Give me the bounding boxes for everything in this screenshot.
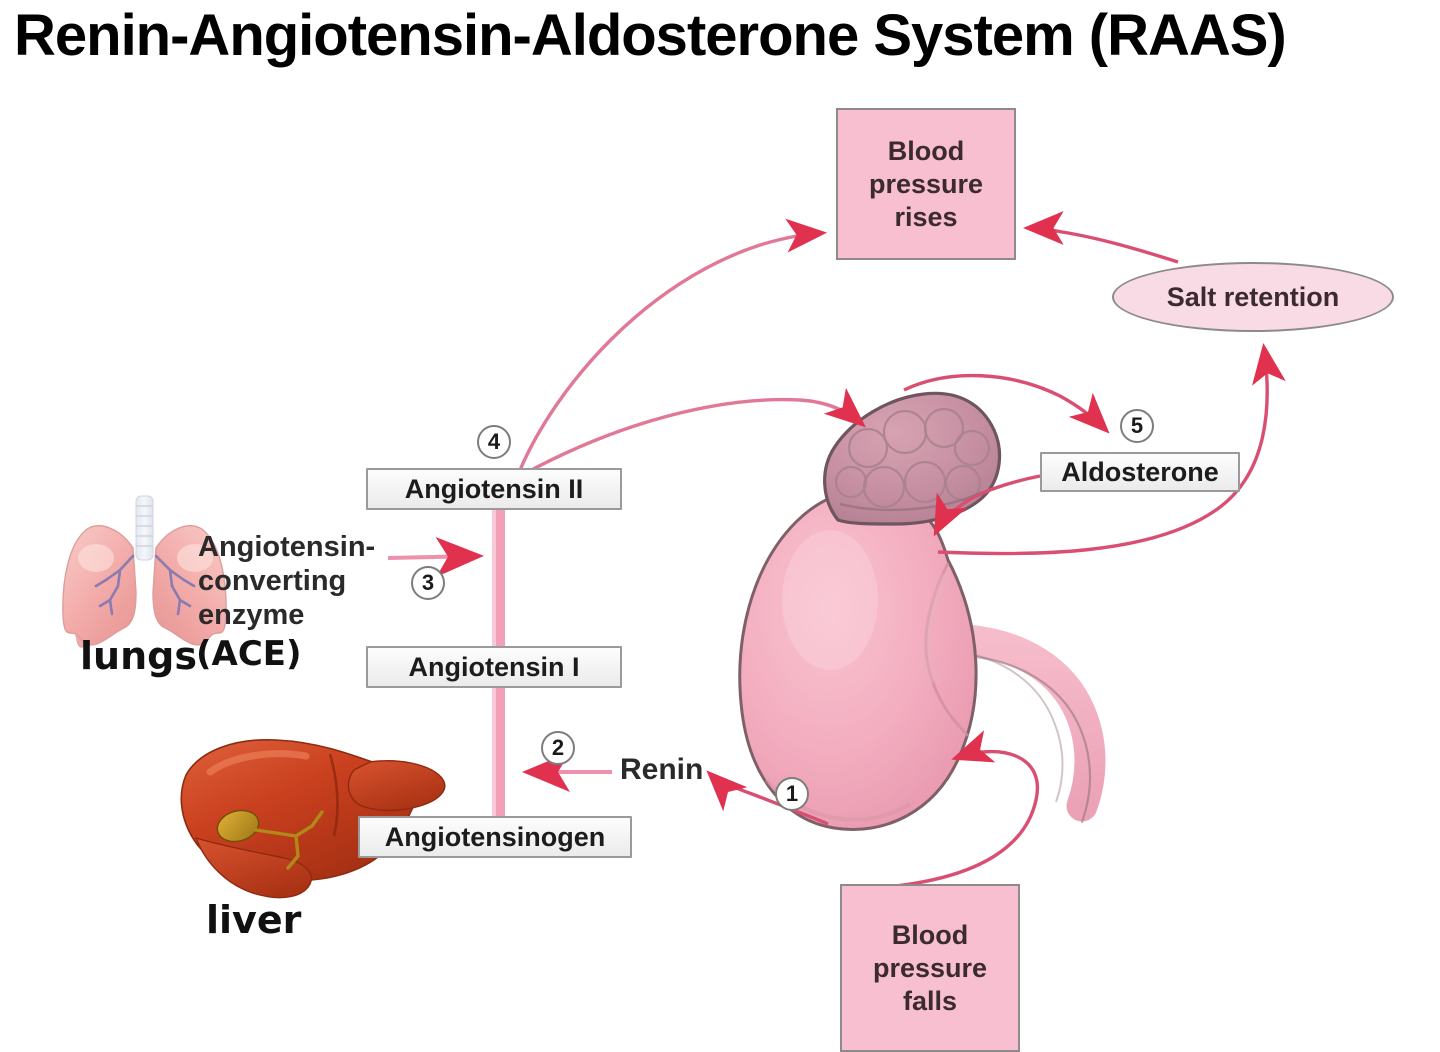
diagram-canvas: Renin-Angiotensin-Aldosterone System (RA…	[0, 0, 1440, 1051]
liver-caption: liver	[206, 898, 301, 942]
step-5-marker: 5	[1120, 409, 1154, 443]
adrenal-gland-icon	[825, 393, 1000, 524]
aldosterone-box[interactable]: Aldosterone	[1040, 452, 1240, 492]
blood-pressure-rises-box[interactable]: Blood pressure rises	[836, 108, 1016, 260]
blood-pressure-falls-box[interactable]: Blood pressure falls	[840, 884, 1020, 1052]
step-4-marker: 4	[477, 425, 511, 459]
angiotensinogen-box[interactable]: Angiotensinogen	[358, 816, 632, 858]
salt-retention-node[interactable]: Salt retention	[1112, 262, 1394, 332]
arrow-angiotensin-ii-to-adrenal	[524, 400, 862, 474]
angiotensin-ii-box[interactable]: Angiotensin II	[366, 468, 622, 510]
step-3-marker: 3	[411, 566, 445, 600]
diagram-artwork	[0, 0, 1440, 1051]
renin-label: Renin	[620, 753, 703, 787]
ace-abbrev-label: (ACE)	[196, 634, 302, 674]
step-2-marker: 2	[541, 731, 575, 765]
arrow-ace-to-angiotensin-i	[388, 556, 478, 558]
arrow-salt-retention-to-bp-rises	[1028, 228, 1178, 262]
arrow-angiotensin-ii-to-bp-rises	[520, 233, 822, 470]
ace-full-label: Angiotensin- converting enzyme	[198, 530, 375, 632]
step-1-marker: 1	[775, 777, 809, 811]
angiotensin-i-box[interactable]: Angiotensin I	[366, 646, 622, 688]
lungs-caption: lungs	[80, 634, 197, 678]
